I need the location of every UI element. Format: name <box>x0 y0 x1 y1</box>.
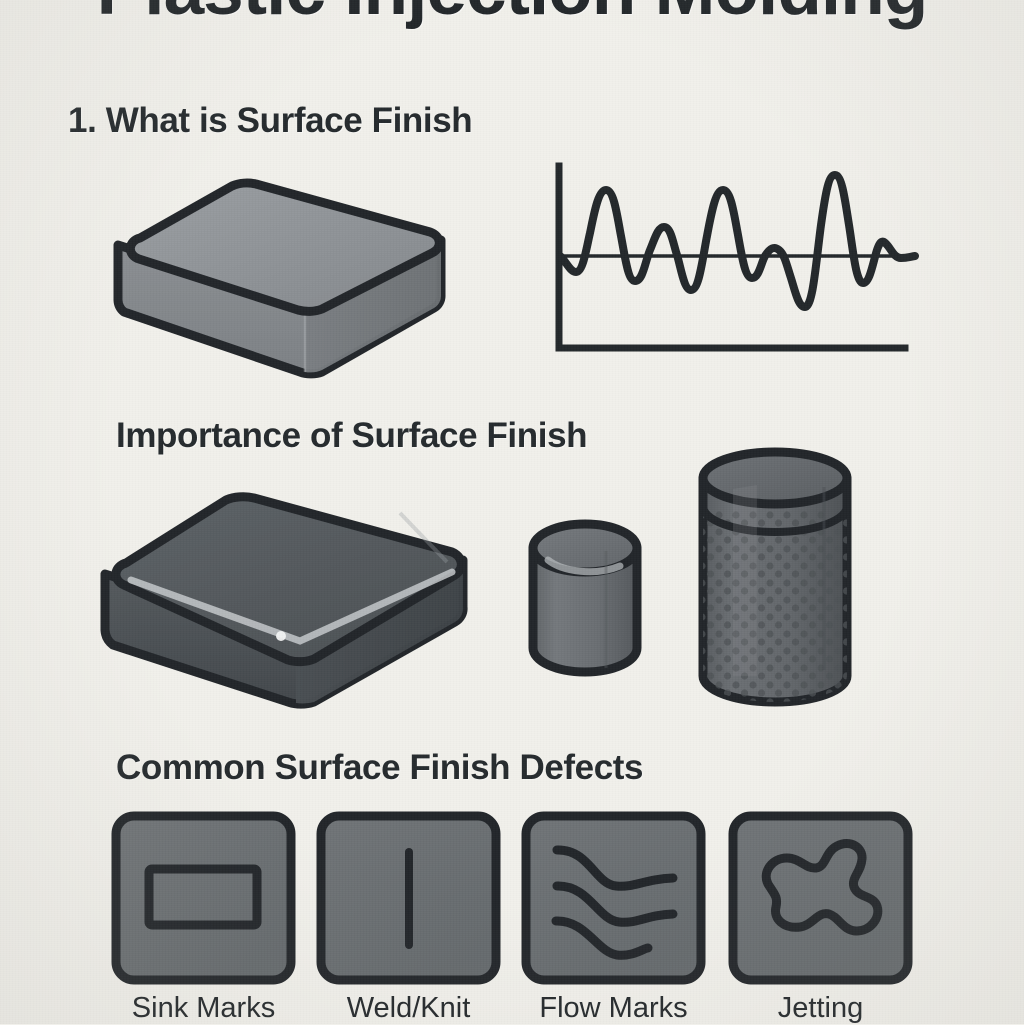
section-heading-importance-of-surface-finish: Importance of Surface Finish <box>116 416 587 456</box>
defect-label-sink-marks: Sink Marks <box>116 992 291 1025</box>
defect-tile-jetting[interactable] <box>733 816 908 980</box>
illustrations-layer <box>0 0 1024 1024</box>
textured-cylinder-illustration <box>700 452 850 708</box>
poster-canvas: Plastic Injection Molding 1. What is Sur… <box>0 0 1024 1024</box>
defect-tile-weld-knit[interactable] <box>321 816 496 980</box>
wavy-lines-icon <box>556 850 673 955</box>
defect-label-flow-marks: Flow Marks <box>526 992 701 1025</box>
defect-tile-flow-marks[interactable] <box>526 816 701 980</box>
rectangle-outline-icon <box>149 869 257 925</box>
section-heading-common-surface-finish-defects: Common Surface Finish Defects <box>116 748 643 788</box>
glossy-molded-block-illustration <box>105 497 463 704</box>
defect-label-jetting: Jetting <box>733 992 908 1025</box>
section-heading-what-is-surface-finish: 1. What is Surface Finish <box>68 101 472 141</box>
defect-tile-sink-marks[interactable] <box>116 816 291 980</box>
vignette-overlay <box>0 0 1024 1024</box>
smooth-cylinder-illustration <box>533 524 637 672</box>
page-title: Plastic Injection Molding <box>0 0 1024 31</box>
matte-molded-block-illustration <box>118 183 441 374</box>
blob-outline-icon <box>766 844 878 931</box>
paper-grain-overlay <box>0 0 1024 1024</box>
surface-roughness-profile-chart <box>559 166 915 348</box>
defect-label-weld-knit: Weld/Knit <box>321 992 496 1025</box>
